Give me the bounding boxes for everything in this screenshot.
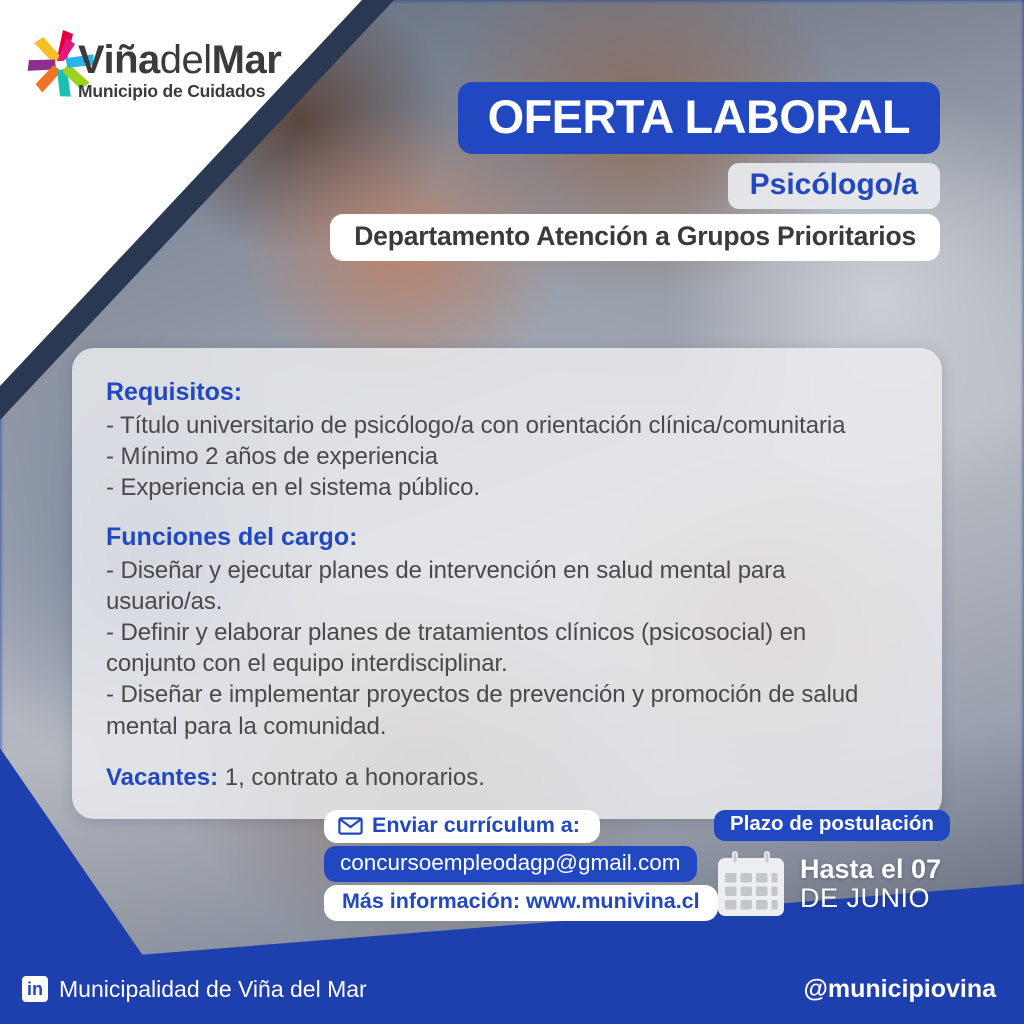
requisitos-heading: Requisitos: xyxy=(106,378,908,408)
social-handle: @municipiovina xyxy=(804,977,996,1002)
footer-organization: in Municipalidad de Viña del Mar xyxy=(22,976,367,1002)
deadline-block: Plazo de postulación xyxy=(714,810,964,919)
offer-title-banner: OFERTA LABORAL xyxy=(458,82,940,154)
deadline-row: Hasta el 07 DE JUNIO xyxy=(714,849,964,919)
funciones-item: - Diseñar y ejecutar planes de intervenc… xyxy=(106,555,908,617)
job-details-card: Requisitos: - Título universitario de ps… xyxy=(72,348,942,819)
role-badge: Psicólogo/a xyxy=(728,163,940,209)
section-spacer xyxy=(106,742,908,762)
deadline-header-label: Plazo de postulación xyxy=(730,814,934,835)
more-info-label[interactable]: Más información: www.munivina.cl xyxy=(342,891,700,913)
organization-name: Municipalidad de Viña del Mar xyxy=(59,978,367,1001)
section-spacer xyxy=(106,503,908,523)
funciones-item: - Diseñar e implementar proyectos de pre… xyxy=(106,679,908,710)
email-address[interactable]: concursoempleodagp@gmail.com xyxy=(340,852,681,875)
logo-wordmark: ViñadelMar Municipio de Cuidados xyxy=(78,40,281,103)
department-badge: Departamento Atención a Grupos Prioritar… xyxy=(330,214,940,261)
funciones-item: conjunto con el equipo interdisciplinar. xyxy=(106,648,908,679)
requisitos-item: - Título universitario de psicólogo/a co… xyxy=(106,410,908,441)
deadline-header: Plazo de postulación xyxy=(714,810,950,841)
more-info-bar[interactable]: Más información: www.munivina.cl xyxy=(324,885,718,921)
contact-block: Enviar currículum a: concursoempleodagp@… xyxy=(324,810,690,921)
funciones-item: - Definir y elaborar planes de tratamien… xyxy=(106,617,908,648)
department-label: Departamento Atención a Grupos Prioritar… xyxy=(354,223,916,250)
role-label: Psicólogo/a xyxy=(750,170,918,200)
deadline-date: Hasta el 07 DE JUNIO xyxy=(800,855,941,912)
deadline-date-line1: Hasta el 07 xyxy=(800,855,941,883)
vacantes-value: 1, contrato a honorarios. xyxy=(218,764,485,791)
requisitos-item: - Experiencia en el sistema público. xyxy=(106,472,908,503)
calendar-icon xyxy=(714,849,788,919)
deadline-date-line2: DE JUNIO xyxy=(800,884,941,912)
requisitos-item: - Mínimo 2 años de experiencia xyxy=(106,441,908,472)
email-address-bar[interactable]: concursoempleodagp@gmail.com xyxy=(324,846,697,883)
vina-del-mar-logo: ViñadelMar Municipio de Cuidados xyxy=(18,18,298,112)
vacantes-label: Vacantes: xyxy=(106,764,218,791)
funciones-item: mental para la comunidad. xyxy=(106,711,908,742)
send-cv-header: Enviar currículum a: xyxy=(324,810,600,843)
vacantes-row: Vacantes: 1, contrato a honorarios. xyxy=(106,762,908,793)
envelope-icon xyxy=(338,817,363,835)
logo-line-1: ViñadelMar xyxy=(78,40,281,80)
page-title: OFERTA LABORAL xyxy=(488,93,910,140)
send-cv-label: Enviar currículum a: xyxy=(372,815,580,837)
logo-line-2: Municipio de Cuidados xyxy=(78,81,281,103)
funciones-heading: Funciones del cargo: xyxy=(106,523,908,553)
linkedin-icon[interactable]: in xyxy=(22,976,48,1002)
